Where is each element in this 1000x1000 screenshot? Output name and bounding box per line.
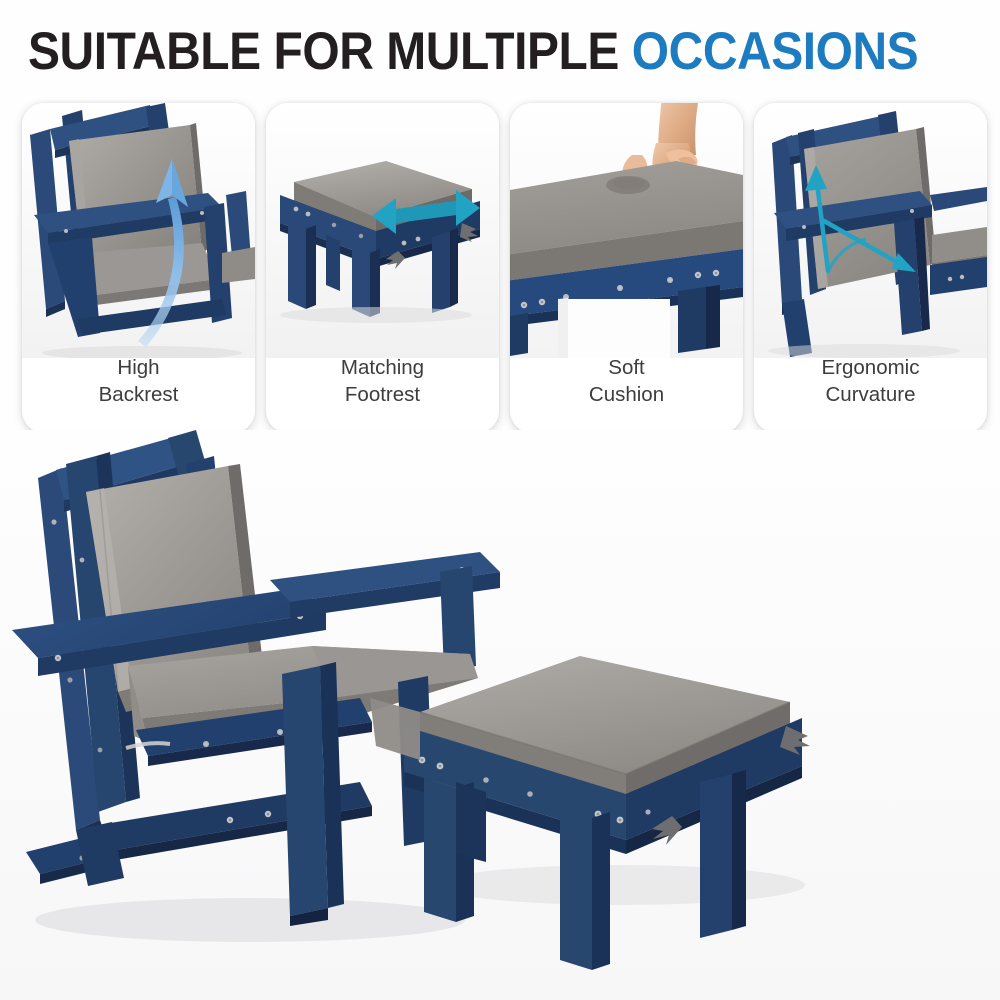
feature-photo-high-backrest — [22, 103, 255, 358]
feature-photo-matching-footrest — [266, 103, 499, 358]
feature-label-ergonomic-curvature: Ergonomic Curvature — [754, 355, 987, 408]
page-title-accent: OCCASIONS — [632, 22, 918, 81]
feature-card-soft-cushion[interactable]: Soft Cushion — [510, 103, 743, 433]
feature-label-matching-footrest: Matching Footrest — [266, 355, 499, 408]
feature-card-row: High Backrest — [22, 103, 985, 433]
feature-label-line2: Cushion — [510, 382, 743, 409]
feature-label-line2: Backrest — [22, 382, 255, 409]
feature-label-line1: Matching — [341, 356, 424, 379]
page-title-primary: SUITABLE FOR MULTIPLE — [28, 22, 632, 81]
feature-label-line1: Soft — [608, 356, 644, 379]
feature-card-ergonomic-curvature[interactable]: Ergonomic Curvature — [754, 103, 987, 433]
feature-label-line2: Curvature — [754, 382, 987, 409]
feature-label-line2: Footrest — [266, 382, 499, 409]
feature-label-line1: Ergonomic — [822, 356, 920, 379]
page-title: SUITABLE FOR MULTIPLE OCCASIONS — [28, 24, 890, 80]
feature-photo-soft-cushion — [510, 103, 743, 358]
hero-product-image — [0, 430, 1000, 1000]
feature-label-high-backrest: High Backrest — [22, 355, 255, 408]
product-infographic: SUITABLE FOR MULTIPLE OCCASIONS — [0, 0, 1000, 1000]
feature-photo-ergonomic-curvature — [754, 103, 987, 358]
feature-label-line1: High — [117, 356, 159, 379]
feature-card-high-backrest[interactable]: High Backrest — [22, 103, 255, 433]
feature-label-soft-cushion: Soft Cushion — [510, 355, 743, 408]
feature-card-matching-footrest[interactable]: Matching Footrest — [266, 103, 499, 433]
